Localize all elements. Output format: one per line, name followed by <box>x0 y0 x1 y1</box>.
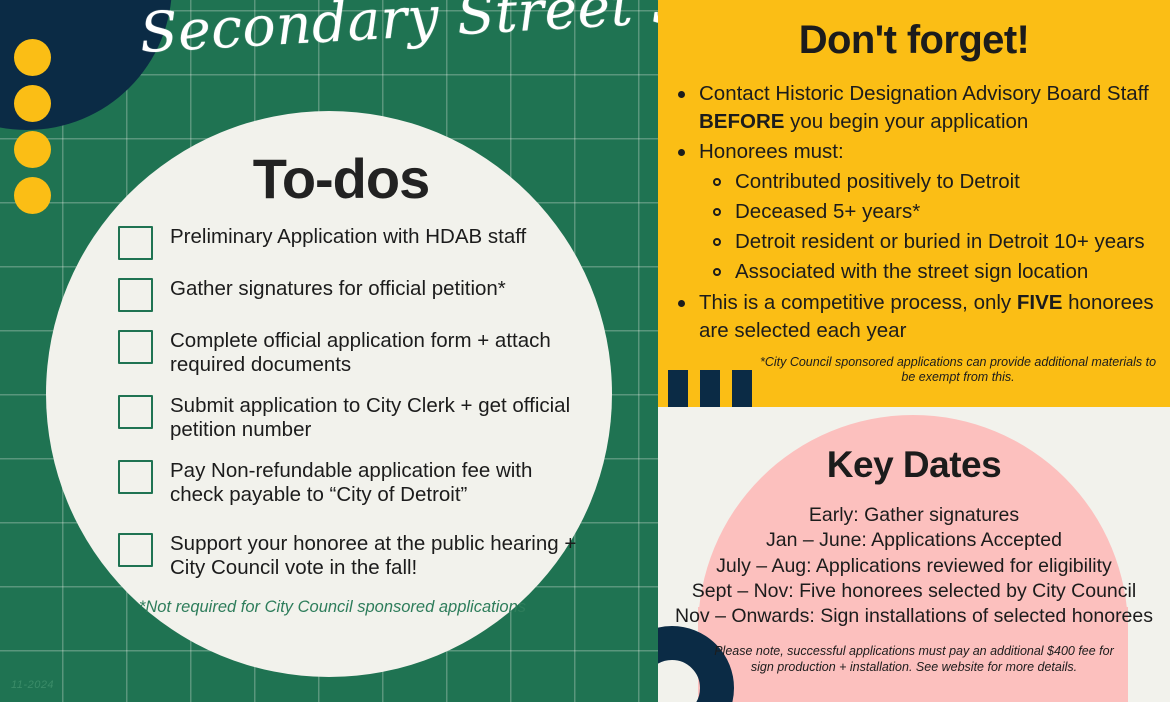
date-line: Early: Gather signatures <box>658 503 1170 528</box>
bullet-text-emphasis: BEFORE <box>699 110 784 133</box>
sub-list-item: Detroit resident or buried in Detroit 10… <box>713 228 1160 256</box>
sub-list-item-label: Detroit resident or buried in Detroit 10… <box>735 228 1145 256</box>
checkbox-icon[interactable] <box>118 278 153 312</box>
hollow-bullet-icon <box>713 208 721 216</box>
todo-item[interactable]: Gather signatures for official petition* <box>118 276 588 312</box>
date-line: Sept – Nov: Five honorees selected by Ci… <box>658 579 1170 604</box>
checkbox-icon[interactable] <box>118 226 153 260</box>
todo-checklist: Preliminary Application with HDAB staff … <box>118 224 588 596</box>
todos-footnote: *Not required for City Council sponsored… <box>105 597 560 618</box>
bullet-text-pre: Contact Historic Designation Advisory Bo… <box>699 82 1149 105</box>
list-item: Contact Historic Designation Advisory Bo… <box>678 80 1160 136</box>
yellow-dot-icon <box>14 39 51 76</box>
todo-item-label: Submit application to City Clerk + get o… <box>170 393 588 442</box>
sub-list-item-label: Contributed positively to Detroit <box>735 168 1020 196</box>
todo-item[interactable]: Preliminary Application with HDAB staff <box>118 224 588 260</box>
list-item: This is a competitive process, only FIVE… <box>678 289 1160 345</box>
green-panel: Secondary Street Signs To-dos Preliminar… <box>0 0 658 702</box>
checkbox-icon[interactable] <box>118 460 153 494</box>
todo-item-label: Gather signatures for official petition* <box>170 276 506 301</box>
sub-list-item-label: Associated with the street sign location <box>735 258 1088 286</box>
sub-list-item-label: Deceased 5+ years* <box>735 198 920 226</box>
date-line: Nov – Onwards: Sign installations of sel… <box>658 604 1170 629</box>
sub-list-item: Associated with the street sign location <box>713 258 1160 286</box>
dont-forget-footnote: *City Council sponsored applications can… <box>758 355 1158 386</box>
list-item-label: This is a competitive process, only FIVE… <box>699 289 1160 345</box>
todo-item[interactable]: Support your honoree at the public heari… <box>118 531 588 580</box>
key-dates-heading: Key Dates <box>658 444 1170 486</box>
key-dates-list: Early: Gather signatures Jan – June: App… <box>658 503 1170 630</box>
todo-item-label: Complete official application form + att… <box>170 328 588 377</box>
list-item: Honorees must: <box>678 138 1160 166</box>
hollow-bullet-icon <box>713 178 721 186</box>
bullet-text-pre: This is a competitive process, only <box>699 291 1017 314</box>
key-dates-panel: Key Dates Early: Gather signatures Jan –… <box>658 407 1170 702</box>
bullet-dot-icon <box>678 149 685 156</box>
hollow-bullet-icon <box>713 238 721 246</box>
key-dates-footnote: Please note, successful applications mus… <box>704 644 1124 675</box>
todo-item[interactable]: Complete official application form + att… <box>118 328 588 377</box>
todo-item[interactable]: Pay Non-refundable application fee with … <box>118 458 588 507</box>
todo-item-label: Pay Non-refundable application fee with … <box>170 458 588 507</box>
date-stamp: 11-2024 <box>11 679 54 691</box>
hollow-bullet-icon <box>713 268 721 276</box>
sub-list-item: Contributed positively to Detroit <box>713 168 1160 196</box>
checkbox-icon[interactable] <box>118 330 153 364</box>
checkbox-icon[interactable] <box>118 395 153 429</box>
yellow-dot-icon <box>14 85 51 122</box>
sub-list-item: Deceased 5+ years* <box>713 198 1160 226</box>
dont-forget-list: Contact Historic Designation Advisory Bo… <box>678 80 1160 347</box>
list-item-label: Honorees must: <box>699 138 844 166</box>
infographic-poster: Secondary Street Signs To-dos Preliminar… <box>0 0 1170 702</box>
todo-item[interactable]: Submit application to City Clerk + get o… <box>118 393 588 442</box>
dont-forget-panel: Don't forget! Contact Historic Designati… <box>658 0 1170 407</box>
dont-forget-heading: Don't forget! <box>658 18 1170 63</box>
date-line: July – Aug: Applications reviewed for el… <box>658 554 1170 579</box>
checkbox-icon[interactable] <box>118 533 153 567</box>
bullet-text-post: you begin your application <box>784 110 1028 133</box>
bullet-dot-icon <box>678 91 685 98</box>
bullet-dot-icon <box>678 300 685 307</box>
todo-item-label: Preliminary Application with HDAB staff <box>170 224 526 249</box>
todo-item-label: Support your honoree at the public heari… <box>170 531 588 580</box>
date-line: Jan – June: Applications Accepted <box>658 528 1170 553</box>
bullet-text-emphasis: FIVE <box>1017 291 1063 314</box>
honoree-requirements-list: Contributed positively to Detroit Deceas… <box>713 168 1160 286</box>
todos-heading: To-dos <box>0 146 658 211</box>
list-item-label: Contact Historic Designation Advisory Bo… <box>699 80 1160 136</box>
